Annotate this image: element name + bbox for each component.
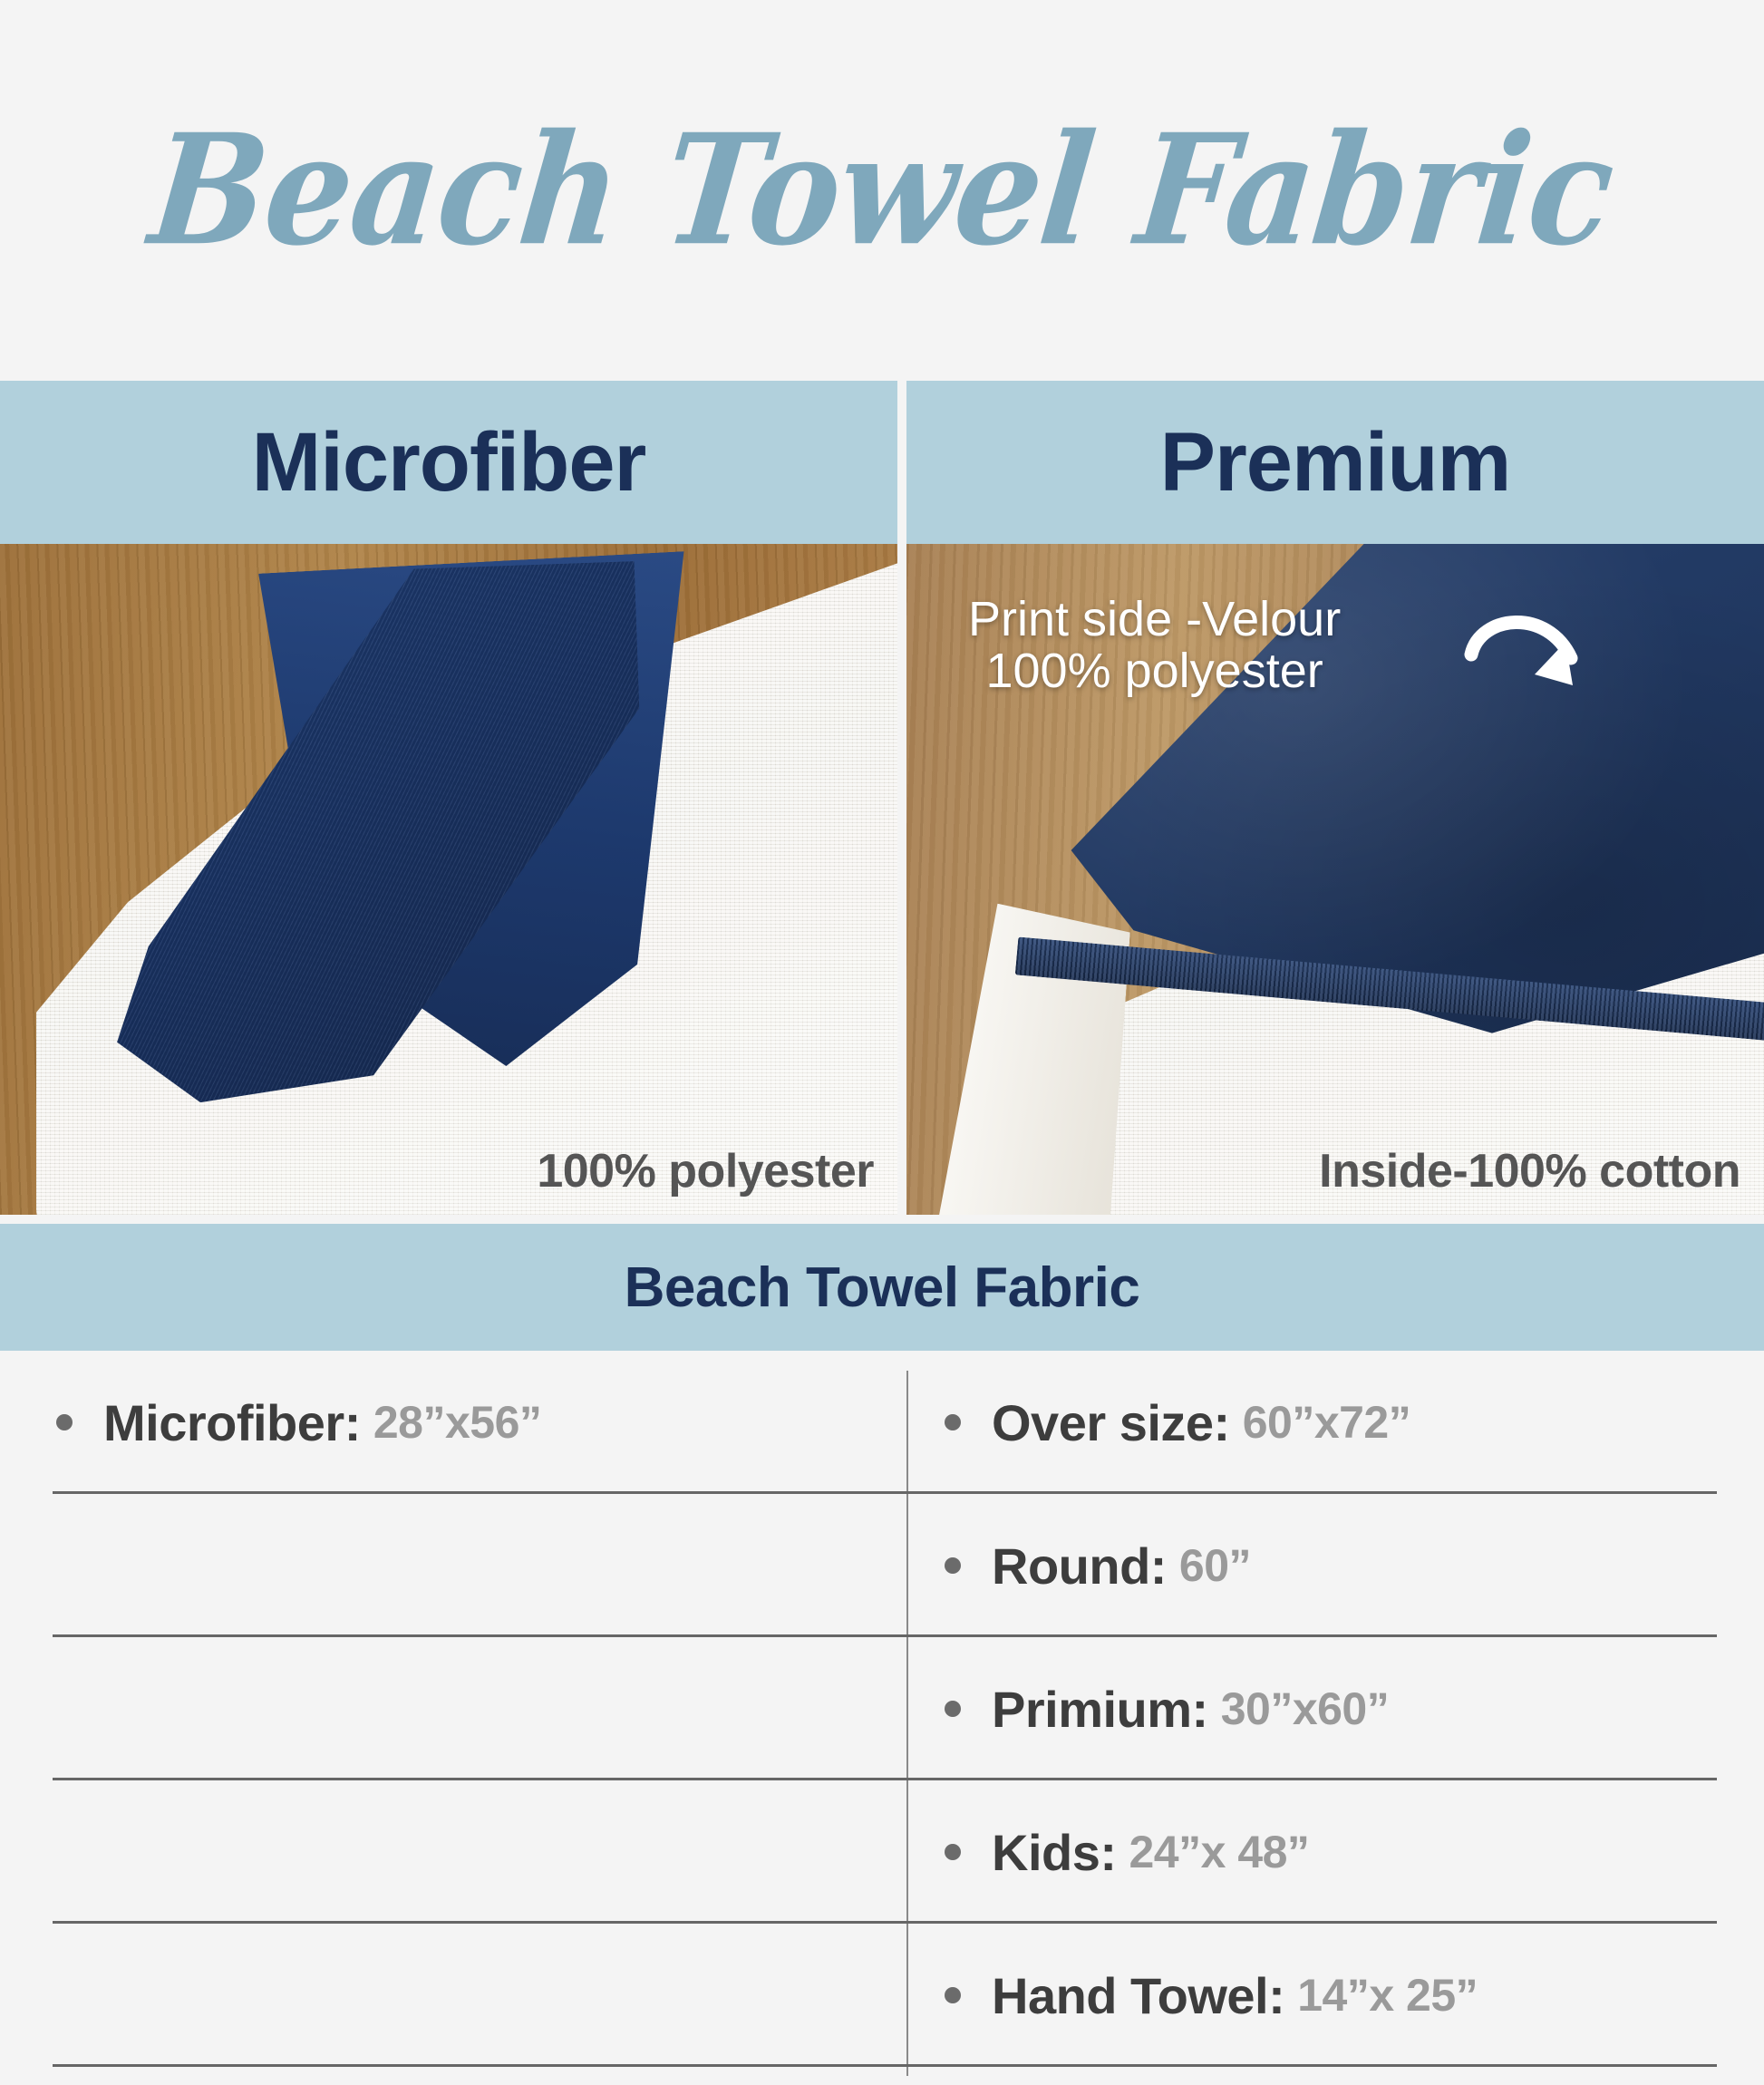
- spec-label: Microfiber:: [103, 1393, 361, 1452]
- spec-row: Microfiber: 28”x56”: [0, 1351, 906, 1494]
- spec-column-left: Microfiber: 28”x56”: [0, 1351, 906, 2076]
- bullet-icon: [945, 1844, 961, 1860]
- premium-overlay-note: Print side -Velour 100% polyester: [968, 594, 1341, 697]
- column-header-microfiber: Microfiber: [0, 381, 897, 544]
- spec-row: Over size: 60”x72”: [906, 1351, 1764, 1494]
- microfiber-caption: 100% polyester: [537, 1144, 874, 1198]
- spec-value: 60”: [1179, 1539, 1251, 1592]
- page-title: Beach Towel Fabric: [144, 114, 1620, 267]
- spec-value: 30”x60”: [1221, 1683, 1390, 1735]
- bullet-icon: [945, 1414, 961, 1430]
- spec-row: Kids: 24”x 48”: [906, 1780, 1764, 1924]
- spec-label: Hand Towel:: [992, 1966, 1284, 2025]
- spec-label: Primium:: [992, 1680, 1208, 1739]
- premium-caption: Inside-100% cotton: [1319, 1144, 1740, 1198]
- premium-photo: Print side -Velour 100% polyester Inside…: [906, 544, 1764, 1215]
- spec-row: Hand Towel: 14”x 25”: [906, 1924, 1764, 2067]
- spec-value: 28”x56”: [373, 1396, 542, 1449]
- bullet-icon: [945, 1557, 961, 1574]
- microfiber-photo: 100% polyester: [0, 544, 897, 1215]
- spec-label: Over size:: [992, 1393, 1230, 1452]
- bullet-icon: [56, 1414, 73, 1430]
- spec-list-section: Microfiber: 28”x56”: [0, 1351, 1764, 2076]
- comparison-photo-row: 100% polyester Print side -Velour 100% p…: [0, 544, 1764, 1215]
- spec-row: [0, 1494, 906, 1637]
- spec-column-right: Over size: 60”x72” Round: 60” Primium: 3…: [906, 1351, 1764, 2076]
- column-header-premium: Premium: [906, 381, 1764, 544]
- spec-value: 14”x 25”: [1297, 1969, 1478, 2022]
- title-banner: Beach Towel Fabric: [0, 0, 1764, 381]
- spec-row: [0, 1924, 906, 2067]
- section-subtitle-label: Beach Towel Fabric: [625, 1256, 1140, 1320]
- premium-overlay-note-line1: Print side -Velour: [968, 594, 1341, 645]
- spec-row: Round: 60”: [906, 1494, 1764, 1637]
- spec-value: 24”x 48”: [1129, 1826, 1310, 1878]
- bullet-icon: [945, 1701, 961, 1717]
- column-header-premium-label: Premium: [1160, 421, 1511, 504]
- spec-row: [0, 1637, 906, 1780]
- spec-value: 60”x72”: [1243, 1396, 1411, 1449]
- spec-row: Primium: 30”x60”: [906, 1637, 1764, 1780]
- spec-label: Kids:: [992, 1823, 1117, 1882]
- premium-overlay-note-line2: 100% polyester: [968, 645, 1341, 697]
- spec-row: [0, 1780, 906, 1924]
- spec-label: Round:: [992, 1537, 1167, 1595]
- bullet-icon: [945, 1987, 961, 2003]
- comparison-header-row: Microfiber Premium: [0, 381, 1764, 544]
- section-subtitle-bar: Beach Towel Fabric: [0, 1224, 1764, 1351]
- column-header-microfiber-label: Microfiber: [252, 421, 646, 504]
